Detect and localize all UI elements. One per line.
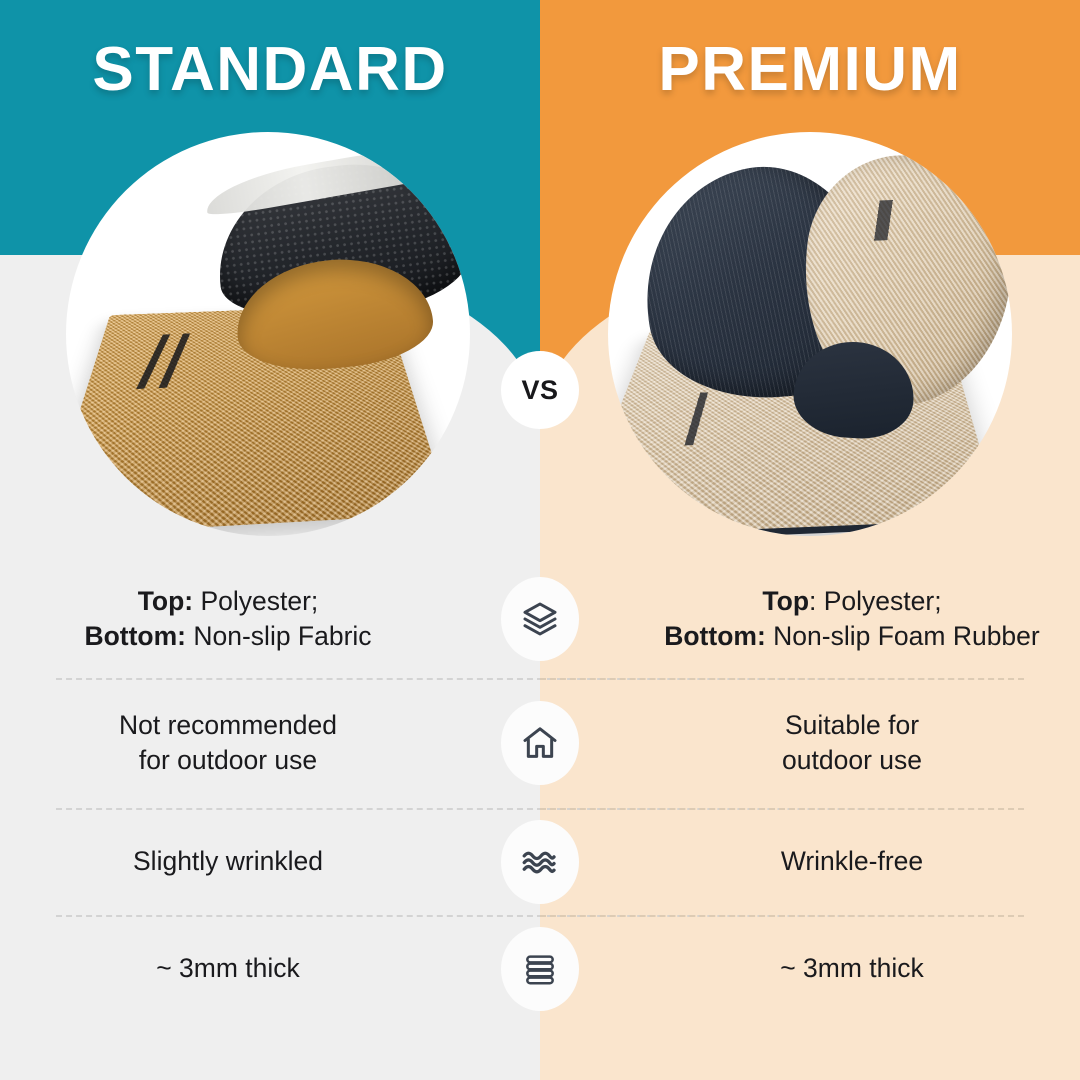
standard-thickness-text: ~ 3mm thick [0, 915, 500, 1022]
premium-product-image [608, 132, 1012, 536]
comparison-row-thickness: ~ 3mm thick ~ 3mm thick [0, 915, 1080, 1022]
standard-outdoor-line1: Not recommended [119, 708, 337, 743]
waves-icon [501, 820, 579, 904]
premium-bottom-label: Bottom: [664, 621, 766, 651]
comparison-rows: Top: Polyester; Bottom: Non-slip Fabric [0, 560, 1080, 1022]
premium-outdoor-line2: outdoor use [782, 743, 922, 778]
premium-top-value: : Polyester; [809, 586, 942, 616]
vs-badge: VS [501, 351, 579, 429]
standard-wrinkle-value: Slightly wrinkled [133, 844, 323, 879]
comparison-row-material: Top: Polyester; Bottom: Non-slip Fabric [0, 560, 1080, 678]
standard-thickness-value: ~ 3mm thick [156, 951, 300, 986]
premium-bottom-value: Non-slip Foam Rubber [766, 621, 1040, 651]
standard-bottom-value: Non-slip Fabric [186, 621, 372, 651]
standard-material-text: Top: Polyester; Bottom: Non-slip Fabric [0, 560, 500, 678]
standard-product-image [66, 132, 470, 536]
premium-thickness-value: ~ 3mm thick [780, 951, 924, 986]
comparison-row-wrinkle: Slightly wrinkled Wrinkle-free [0, 808, 1080, 915]
standard-wrinkle-text: Slightly wrinkled [0, 808, 500, 915]
premium-material-text: Top: Polyester; Bottom: Non-slip Foam Ru… [580, 560, 1080, 678]
comparison-infographic: STANDARD PREMIUM VS Top: Polyester; Bott… [0, 0, 1080, 1080]
standard-outdoor-text: Not recommended for outdoor use [0, 678, 500, 808]
thickness-stack-icon [501, 927, 579, 1011]
premium-wrinkle-text: Wrinkle-free [580, 808, 1080, 915]
standard-title: STANDARD [0, 34, 540, 105]
premium-top-label: Top [762, 586, 809, 616]
standard-outdoor-line2: for outdoor use [119, 743, 337, 778]
premium-outdoor-text: Suitable for outdoor use [580, 678, 1080, 808]
premium-title: PREMIUM [540, 34, 1080, 105]
comparison-row-outdoor: Not recommended for outdoor use Suitable… [0, 678, 1080, 808]
premium-outdoor-line1: Suitable for [782, 708, 922, 743]
premium-wrinkle-value: Wrinkle-free [781, 844, 923, 879]
standard-bottom-label: Bottom: [84, 621, 186, 651]
layers-icon [501, 577, 579, 661]
house-icon [501, 701, 579, 785]
standard-top-label: Top: [138, 586, 193, 616]
premium-thickness-text: ~ 3mm thick [580, 915, 1080, 1022]
standard-top-value: Polyester; [193, 586, 318, 616]
